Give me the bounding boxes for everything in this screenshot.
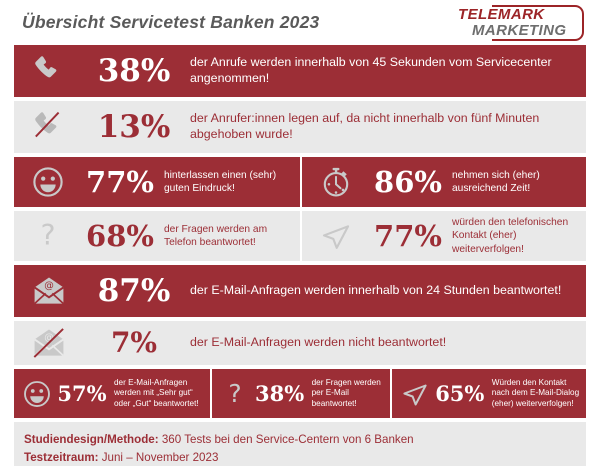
infographic-poster: Übersicht Servicetest Banken 2023 TELEMA… [0, 0, 600, 456]
stat-text: der Fragen werden am Telefon beantwortet… [164, 223, 294, 249]
stat-cell: 57% der E-Mail-Anfragen werden mit „Sehr… [14, 369, 210, 418]
stat-cell: @ 7% der E-Mail-Anfragen werden nicht be… [14, 321, 586, 365]
stat-text: der Anrufer:innen legen auf, da nicht in… [190, 111, 580, 143]
svg-text:@: @ [44, 281, 54, 292]
stat-percent: 7% [78, 329, 190, 357]
footer-method-value: 360 Tests bei den Service-Centern von 6 … [159, 433, 414, 446]
page-title: Übersicht Servicetest Banken 2023 [14, 12, 319, 33]
stat-percent: 68% [76, 222, 164, 251]
stat-row-3: 77% hinterlassen einen (sehr) guten Eind… [14, 157, 586, 207]
stat-percent: 77% [364, 222, 452, 251]
svg-text:?: ? [40, 219, 55, 252]
email-open-icon: @ [20, 273, 78, 309]
stat-row-7: 57% der E-Mail-Anfragen werden mit „Sehr… [14, 369, 586, 418]
svg-text:?: ? [228, 379, 241, 408]
stat-row-2: 13% der Anrufer:innen legen auf, da nich… [14, 101, 586, 153]
stat-text: der Fragen werden per E-Mail beantwortet… [307, 378, 385, 410]
stat-cell: 86% nehmen sich (eher) ausreichend Zeit! [300, 157, 586, 207]
stat-percent: 86% [364, 168, 452, 197]
phone-missed-icon [20, 109, 78, 145]
stat-text: Würden den Kontakt nach dem E-Mail-Dialo… [487, 378, 581, 410]
stat-text: der Anrufe werden innerhalb von 45 Sekun… [190, 55, 580, 87]
stat-cell: 13% der Anrufer:innen legen auf, da nich… [14, 101, 586, 153]
stat-percent: 38% [253, 383, 307, 404]
stat-cell: @ 87% der E-Mail-Anfragen werden innerha… [14, 265, 586, 317]
stat-row-5: @ 87% der E-Mail-Anfragen werden innerha… [14, 265, 586, 317]
stat-cell: 38% der Anrufe werden innerhalb von 45 S… [14, 45, 586, 97]
footer-period-label: Testzeitraum: [24, 451, 99, 464]
logo-line-telemark: TELEMARK [458, 6, 545, 23]
stopwatch-icon [308, 165, 364, 199]
cursor-arrow-icon [308, 219, 364, 253]
logo-line-marketing: MARKETING [472, 22, 566, 39]
stat-percent: 65% [433, 383, 487, 404]
stat-row-6: @ 7% der E-Mail-Anfragen werden nicht be… [14, 321, 586, 365]
stat-text: hinterlassen einen (sehr) guten Eindruck… [164, 169, 294, 195]
stat-text: der E-Mail-Anfragen werden innerhalb von… [190, 283, 580, 299]
stat-percent: 13% [78, 112, 190, 143]
phone-icon [20, 53, 78, 89]
smiley-icon [19, 379, 55, 409]
stat-cell: ? 68% der Fragen werden am Telefon beant… [14, 211, 300, 261]
stat-row-4: ? 68% der Fragen werden am Telefon beant… [14, 211, 586, 261]
footer-period-value: Juni – November 2023 [99, 451, 219, 464]
telemark-marketing-logo: TELEMARK MARKETING [446, 3, 586, 43]
stat-text: würden den telefonischen Kontakt (eher) … [452, 216, 580, 255]
stat-text: der E-Mail-Anfragen werden mit „Sehr gut… [109, 378, 205, 410]
stat-cell: 65% Würden den Kontakt nach dem E-Mail-D… [390, 369, 586, 418]
footer-notes: Studiendesign/Methode: 360 Tests bei den… [14, 422, 586, 466]
stat-cell: 77% hinterlassen einen (sehr) guten Eind… [14, 157, 300, 207]
cursor-arrow-icon [397, 379, 433, 409]
question-mark-icon: ? [20, 219, 76, 253]
question-mark-icon: ? [217, 379, 253, 409]
header: Übersicht Servicetest Banken 2023 TELEMA… [14, 0, 586, 45]
stat-percent: 87% [78, 276, 190, 307]
stat-text: nehmen sich (eher) ausreichend Zeit! [452, 169, 580, 195]
footer-line-method: Studiendesign/Methode: 360 Tests bei den… [24, 431, 576, 449]
email-missed-icon: @ [20, 325, 78, 361]
stat-cell: 77% würden den telefonischen Kontakt (eh… [300, 211, 586, 261]
stat-percent: 77% [76, 168, 164, 197]
footer-line-period: Testzeitraum: Juni – November 2023 [24, 449, 576, 467]
stat-cell: ? 38% der Fragen werden per E-Mail beant… [210, 369, 390, 418]
stat-row-1: 38% der Anrufe werden innerhalb von 45 S… [14, 45, 586, 97]
stat-text: der E-Mail-Anfragen werden nicht beantwo… [190, 335, 580, 351]
smiley-icon [20, 165, 76, 199]
stat-percent: 57% [55, 383, 109, 404]
stat-percent: 38% [78, 56, 190, 87]
footer-method-label: Studiendesign/Methode: [24, 433, 159, 446]
